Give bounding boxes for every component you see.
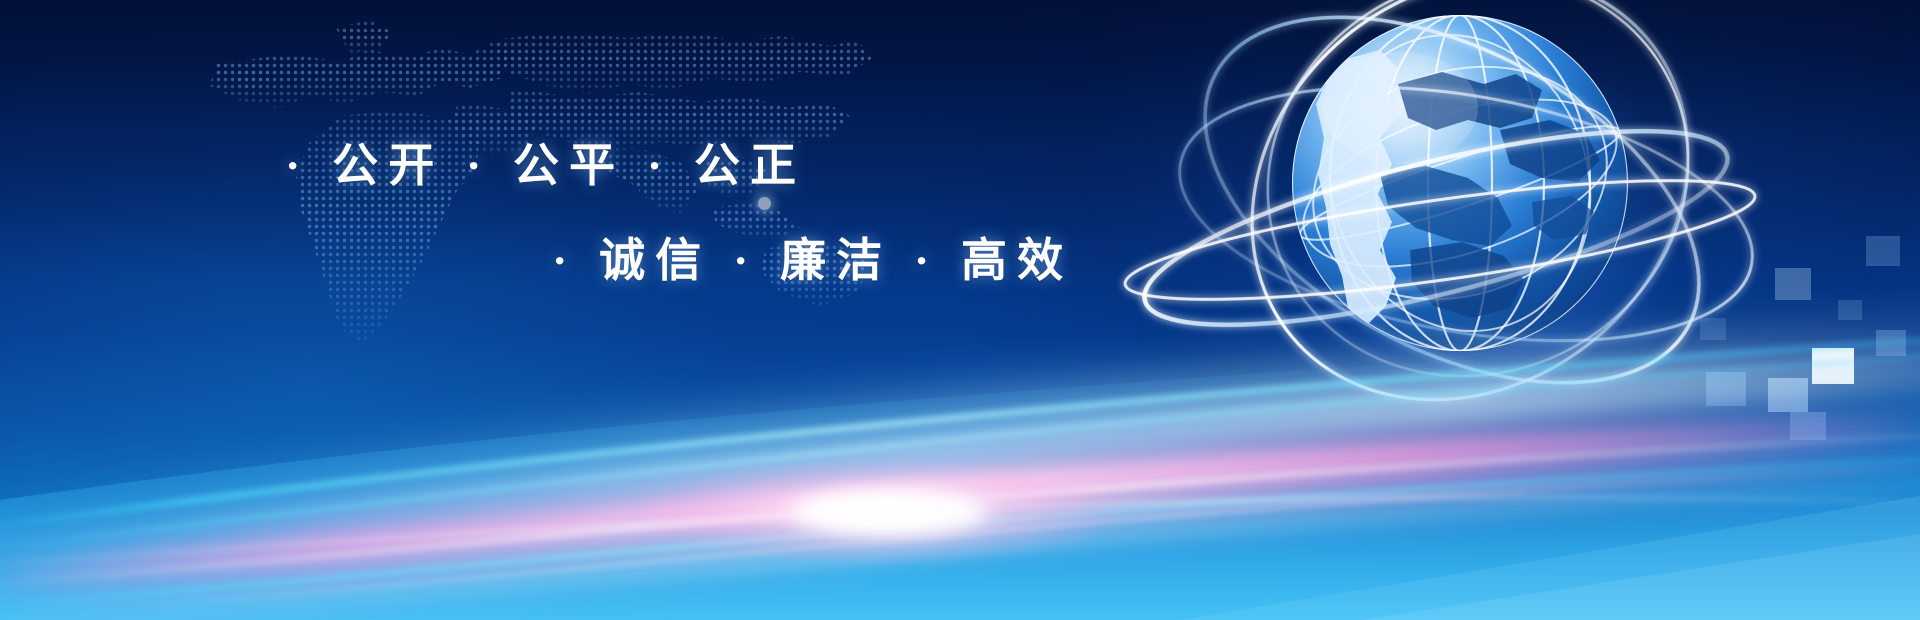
slogan-line-2: · 诚信 · 廉洁 · 高效 <box>552 238 1073 284</box>
light-streaks <box>0 290 1920 620</box>
mosaic-square <box>1866 236 1900 266</box>
banner-root: · 公开 · 公平 · 公正 · 诚信 · 廉洁 · 高效 <box>0 0 1920 620</box>
slogan-line-1: · 公开 · 公平 · 公正 <box>285 143 806 189</box>
